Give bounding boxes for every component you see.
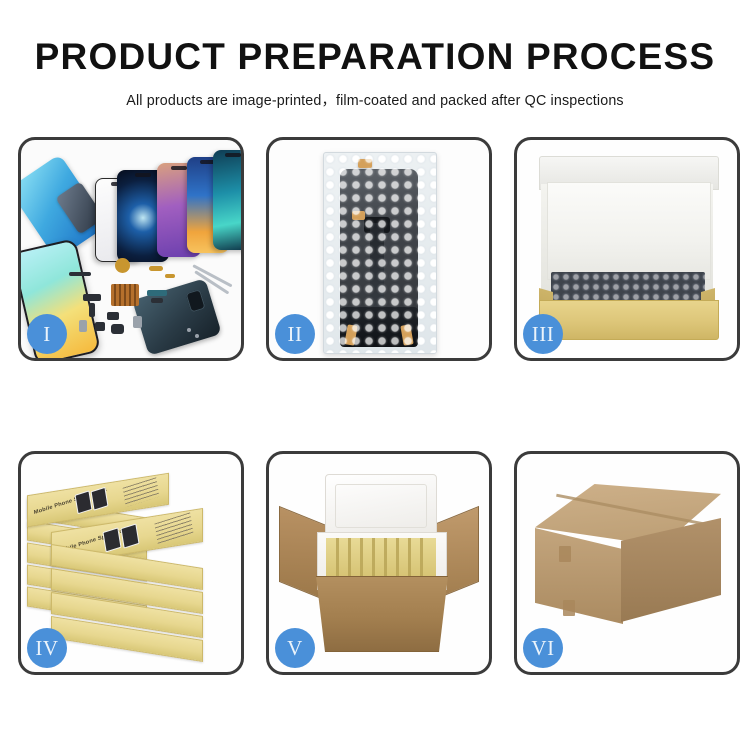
carton-tape-icon [559, 546, 571, 562]
part-chip-icon [107, 312, 119, 320]
part-sim-tray-icon [79, 320, 87, 332]
carton-tape-icon [563, 600, 575, 616]
step-badge-2: II [275, 314, 315, 354]
notch-icon [135, 173, 151, 177]
step-panel-6: VI [514, 451, 740, 675]
part-gold-clip-icon [149, 266, 163, 271]
page-title: PRODUCT PREPARATION PROCESS [0, 38, 750, 75]
header: PRODUCT PREPARATION PROCESS All products… [0, 0, 750, 110]
step-panel-4: Mobile Phone Spare Parts Mobile Phone Sp… [18, 451, 244, 675]
step-badge-1: I [27, 314, 67, 354]
bubble-wrap-bag-icon [323, 152, 437, 354]
step-panel-5: V [266, 451, 492, 675]
step-badge-5: V [275, 628, 315, 668]
process-steps-grid: I II [18, 137, 732, 675]
tweezers-icon [191, 258, 241, 304]
step-panel-1: I [18, 137, 244, 361]
part-screw-icon [195, 334, 199, 338]
phone-screen-teal-icon [213, 150, 241, 250]
part-connector-icon [83, 294, 101, 301]
step-panel-2: II [266, 137, 492, 361]
part-teal-flex-icon [147, 290, 167, 296]
box-artwork-phone-icon [91, 487, 109, 511]
part-coil-icon [115, 258, 130, 273]
step-panel-3: III [514, 137, 740, 361]
carton-front-icon [535, 528, 623, 624]
bubble-texture-overlay [324, 153, 436, 353]
step-badge-3: III [523, 314, 563, 354]
part-camera-icon [95, 322, 105, 331]
packed-yellow-boxes-icon [326, 538, 436, 578]
box-artwork-phone-icon [102, 527, 121, 552]
box-artwork-phone-icon [120, 523, 139, 548]
box-spec-lines [123, 477, 160, 507]
carton-body-icon [307, 576, 457, 652]
box-artwork-phone-icon [75, 490, 93, 514]
part-contact-grid-icon [111, 284, 139, 306]
step-badge-4: IV [27, 628, 67, 668]
infographic-page: PRODUCT PREPARATION PROCESS All products… [0, 0, 750, 750]
page-subtitle: All products are image-printed，film-coat… [0, 89, 750, 110]
foam-lid-icon [325, 474, 437, 538]
part-connector-icon [151, 298, 163, 303]
part-screw-icon [187, 328, 191, 332]
step-badge-6: VI [523, 628, 563, 668]
part-button-icon [133, 316, 142, 328]
foam-sheet-icon [547, 182, 711, 280]
part-strip-icon [69, 272, 91, 276]
yellow-box-front-icon [539, 300, 719, 340]
part-speaker-icon [111, 324, 124, 334]
notch-icon [171, 166, 187, 170]
box-spec-lines [155, 512, 194, 544]
part-flex-cable-icon [89, 303, 95, 317]
notch-icon [225, 153, 241, 157]
phone-screen-fan [95, 152, 241, 262]
part-gold-clip-icon [165, 274, 175, 278]
